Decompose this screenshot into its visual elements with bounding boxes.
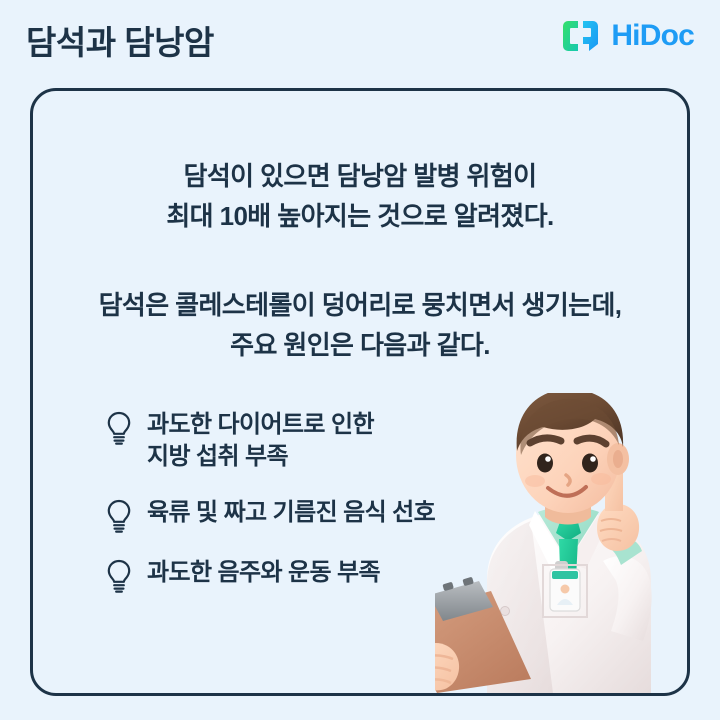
cause-label: 과도한 음주와 운동 부족 xyxy=(147,557,380,589)
lightbulb-icon xyxy=(105,559,133,593)
brand-logo: HiDoc xyxy=(562,20,694,52)
header: 담석과 담낭암 HiDoc xyxy=(0,0,720,84)
lead-statement: 담석이 있으면 담낭암 발병 위험이 최대 10배 높아지는 것으로 알려졌다. xyxy=(33,157,687,236)
lightbulb-icon xyxy=(105,499,133,533)
list-item: 육류 및 짜고 기름진 음식 선호 xyxy=(105,497,535,533)
cause-label: 과도한 다이어트로 인한 지방 섭취 부족 xyxy=(147,409,374,473)
content-card: 담석이 있으면 담낭암 발병 위험이 최대 10배 높아지는 것으로 알려졌다.… xyxy=(30,88,690,696)
page-title: 담석과 담낭암 xyxy=(26,16,214,64)
cause-label: 육류 및 짜고 기름진 음식 선호 xyxy=(147,497,435,529)
cause-list: 과도한 다이어트로 인한 지방 섭취 부족 육류 및 짜고 기름진 음식 선호 xyxy=(105,409,535,593)
list-item: 과도한 다이어트로 인한 지방 섭취 부족 xyxy=(105,409,535,473)
list-item: 과도한 음주와 운동 부족 xyxy=(105,557,535,593)
lightbulb-icon xyxy=(105,411,133,445)
cause-intro: 담석은 콜레스테롤이 덩어리로 뭉치면서 생기는데, 주요 원인은 다음과 같다… xyxy=(33,286,687,365)
brand-name: HiDoc xyxy=(611,21,694,51)
infographic-page: 담석과 담낭암 HiDoc 담석이 있으면 xyxy=(0,0,720,720)
hidoc-bracket-logo-icon xyxy=(562,20,602,52)
